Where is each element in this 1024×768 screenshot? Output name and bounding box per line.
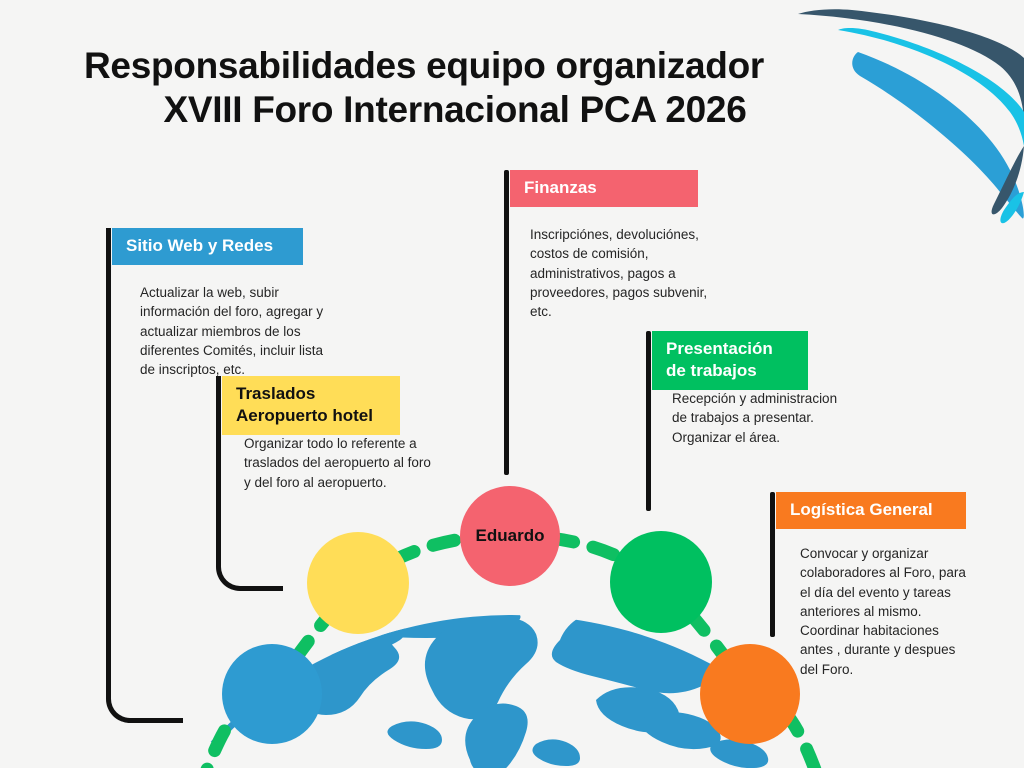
- page-title: Responsabilidades equipo organizador XVI…: [84, 44, 864, 131]
- title-layer: Responsabilidades equipo organizador XVI…: [0, 0, 1024, 768]
- page-title-line-1: Responsabilidades equipo organizador: [84, 44, 864, 88]
- page-title-line-2: XVIII Foro Internacional PCA 2026: [84, 88, 864, 132]
- infographic-canvas: Eduardo Sitio Web y Redes Actualizar la …: [0, 0, 1024, 768]
